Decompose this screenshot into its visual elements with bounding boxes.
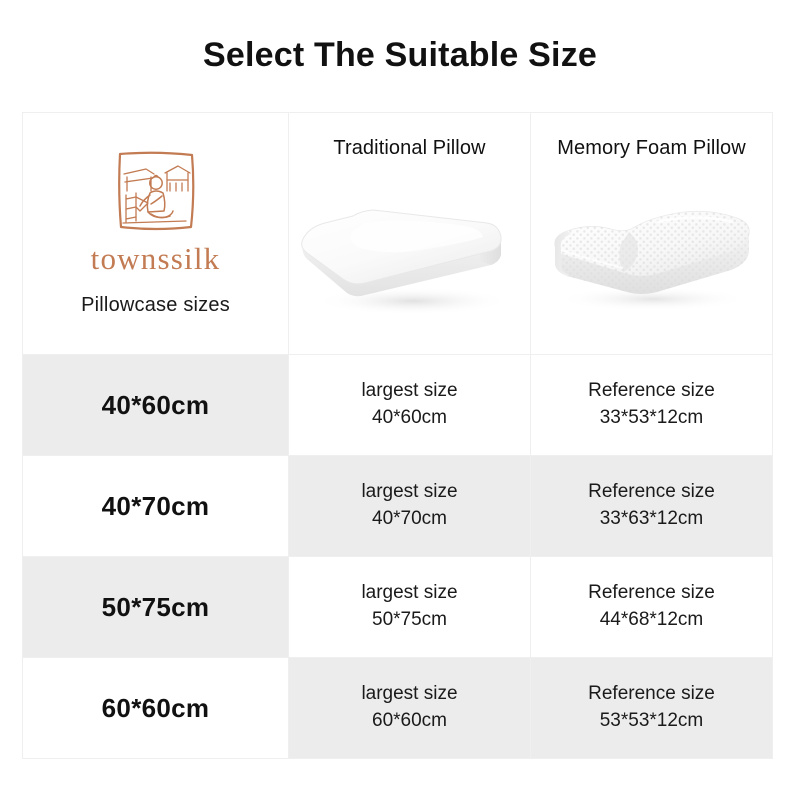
brand-cell: townssilk Pillowcase sizes <box>23 113 289 355</box>
row-size-label: 50*75cm <box>102 592 210 622</box>
page-title: Select The Suitable Size <box>0 36 800 75</box>
memory-foam-pillow-icon <box>537 198 767 318</box>
table-header-row: townssilk Pillowcase sizes Traditional P… <box>23 113 773 355</box>
traditional-spec-value: 50*75cm <box>289 607 530 634</box>
traditional-pillow-header-label: Traditional Pillow <box>289 137 530 160</box>
traditional-spec-title: largest size <box>289 580 530 607</box>
memory-foam-spec: Reference size 44*68*12cm <box>531 580 772 634</box>
row-size-cell: 50*75cm <box>23 557 289 658</box>
row-traditional-cell: largest size 60*60cm <box>289 658 531 759</box>
traditional-spec-value: 40*60cm <box>289 405 530 432</box>
table-row: 40*60cm largest size 40*60cm Reference s… <box>23 355 773 456</box>
traditional-spec: largest size 40*70cm <box>289 479 530 533</box>
memory-foam-spec: Reference size 33*63*12cm <box>531 479 772 533</box>
traditional-spec: largest size 40*60cm <box>289 378 530 432</box>
row-memory-foam-cell: Reference size 33*53*12cm <box>531 355 773 456</box>
memory-foam-spec-title: Reference size <box>531 378 772 405</box>
memory-foam-pillow-header-cell: Memory Foam Pillow <box>531 113 773 355</box>
row-traditional-cell: largest size 40*60cm <box>289 355 531 456</box>
row-size-cell: 40*70cm <box>23 456 289 557</box>
memory-foam-spec-title: Reference size <box>531 580 772 607</box>
row-memory-foam-cell: Reference size 33*63*12cm <box>531 456 773 557</box>
memory-foam-spec: Reference size 33*53*12cm <box>531 378 772 432</box>
memory-foam-pillow-header-label: Memory Foam Pillow <box>531 137 772 160</box>
silk-weaver-emblem-icon <box>110 147 202 235</box>
memory-foam-spec-value: 33*63*12cm <box>531 506 772 533</box>
traditional-pillow-art <box>289 168 530 348</box>
row-traditional-cell: largest size 40*70cm <box>289 456 531 557</box>
memory-foam-spec-value: 53*53*12cm <box>531 708 772 735</box>
memory-foam-spec-title: Reference size <box>531 681 772 708</box>
row-size-label: 40*60cm <box>102 390 210 420</box>
pillow-size-table: townssilk Pillowcase sizes Traditional P… <box>22 112 773 759</box>
table-row: 50*75cm largest size 50*75cm Reference s… <box>23 557 773 658</box>
memory-foam-spec-value: 44*68*12cm <box>531 607 772 634</box>
brand-block: townssilk Pillowcase sizes <box>23 113 288 354</box>
brand-name: townssilk <box>91 243 221 274</box>
row-size-cell: 60*60cm <box>23 658 289 759</box>
row-size-label: 40*70cm <box>102 491 210 521</box>
traditional-spec-value: 60*60cm <box>289 708 530 735</box>
traditional-spec-title: largest size <box>289 681 530 708</box>
memory-foam-spec-title: Reference size <box>531 479 772 506</box>
size-guide-page: Select The Suitable Size <box>0 0 800 800</box>
traditional-pillow-icon <box>295 193 525 323</box>
traditional-spec-title: largest size <box>289 479 530 506</box>
traditional-spec-value: 40*70cm <box>289 506 530 533</box>
traditional-spec-title: largest size <box>289 378 530 405</box>
traditional-spec: largest size 60*60cm <box>289 681 530 735</box>
memory-foam-spec: Reference size 53*53*12cm <box>531 681 772 735</box>
traditional-pillow-header-cell: Traditional Pillow <box>289 113 531 355</box>
row-memory-foam-cell: Reference size 53*53*12cm <box>531 658 773 759</box>
row-memory-foam-cell: Reference size 44*68*12cm <box>531 557 773 658</box>
row-size-cell: 40*60cm <box>23 355 289 456</box>
table-row: 40*70cm largest size 40*70cm Reference s… <box>23 456 773 557</box>
brand-caption: Pillowcase sizes <box>81 294 230 317</box>
table-row: 60*60cm largest size 60*60cm Reference s… <box>23 658 773 759</box>
memory-foam-spec-value: 33*53*12cm <box>531 405 772 432</box>
row-size-label: 60*60cm <box>102 693 210 723</box>
memory-foam-pillow-art <box>531 168 772 348</box>
row-traditional-cell: largest size 50*75cm <box>289 557 531 658</box>
traditional-spec: largest size 50*75cm <box>289 580 530 634</box>
